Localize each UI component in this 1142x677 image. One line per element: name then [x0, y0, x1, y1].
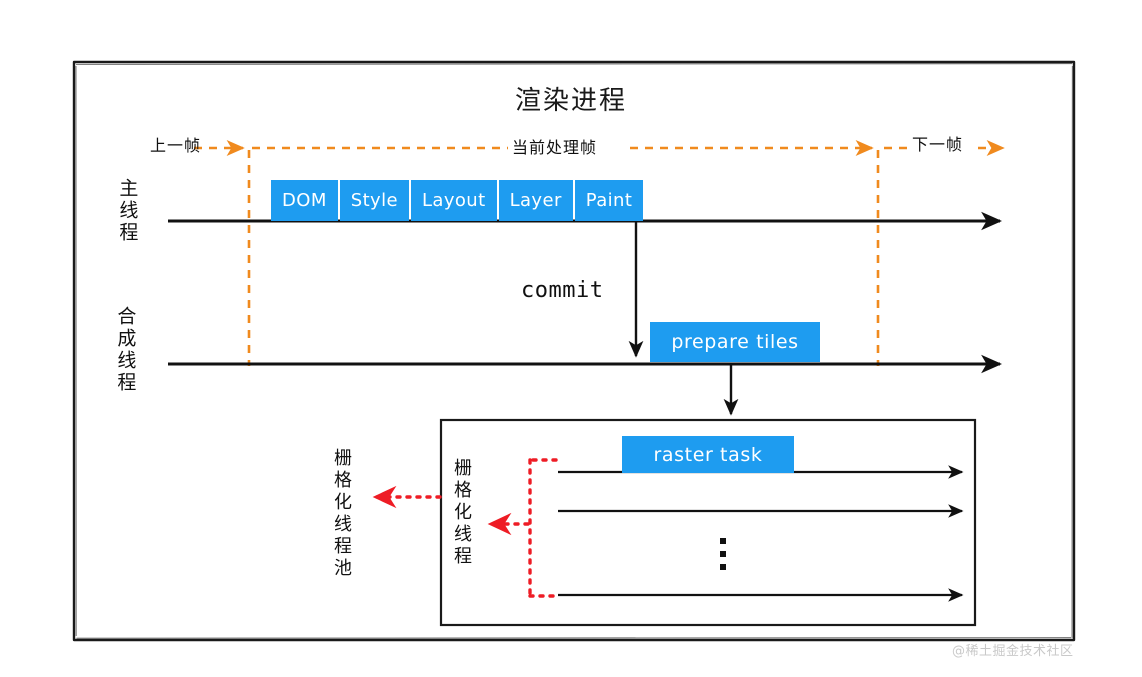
prev-frame-label: 上一帧	[150, 132, 201, 156]
pipeline-stage-style: Style	[340, 180, 409, 221]
pipeline-stage-layout: Layout	[411, 180, 497, 221]
diagram-canvas: 渲染进程 上一帧 当前处理帧 下一帧 主线程 合成线程 栅格化线程池 栅格化线程…	[0, 0, 1142, 677]
page-title: 渲染进程	[0, 80, 1142, 117]
render-pipeline-stages: DOM Style Layout Layer Paint	[271, 180, 643, 221]
raster-task-block: raster task	[622, 436, 794, 473]
pipeline-stage-paint: Paint	[575, 180, 644, 221]
raster-thread-pool-label: 栅格化线程池	[330, 448, 353, 580]
raster-thread-arrows	[558, 472, 962, 595]
raster-thread-label: 栅格化线程	[450, 458, 473, 568]
raster-thread-group-bracket	[530, 460, 556, 596]
current-frame-label: 当前处理帧	[510, 134, 599, 158]
prepare-tiles-block: prepare tiles	[650, 322, 820, 362]
pipeline-stage-dom: DOM	[271, 180, 338, 221]
next-frame-label: 下一帧	[912, 131, 963, 155]
watermark: @稀土掘金技术社区	[952, 640, 1074, 659]
commit-label: commit	[521, 278, 603, 303]
main-thread-label: 主线程	[115, 178, 139, 244]
pipeline-stage-layer: Layer	[499, 180, 573, 221]
raster-threads-ellipsis	[720, 538, 726, 570]
compositor-thread-label: 合成线程	[113, 306, 137, 394]
